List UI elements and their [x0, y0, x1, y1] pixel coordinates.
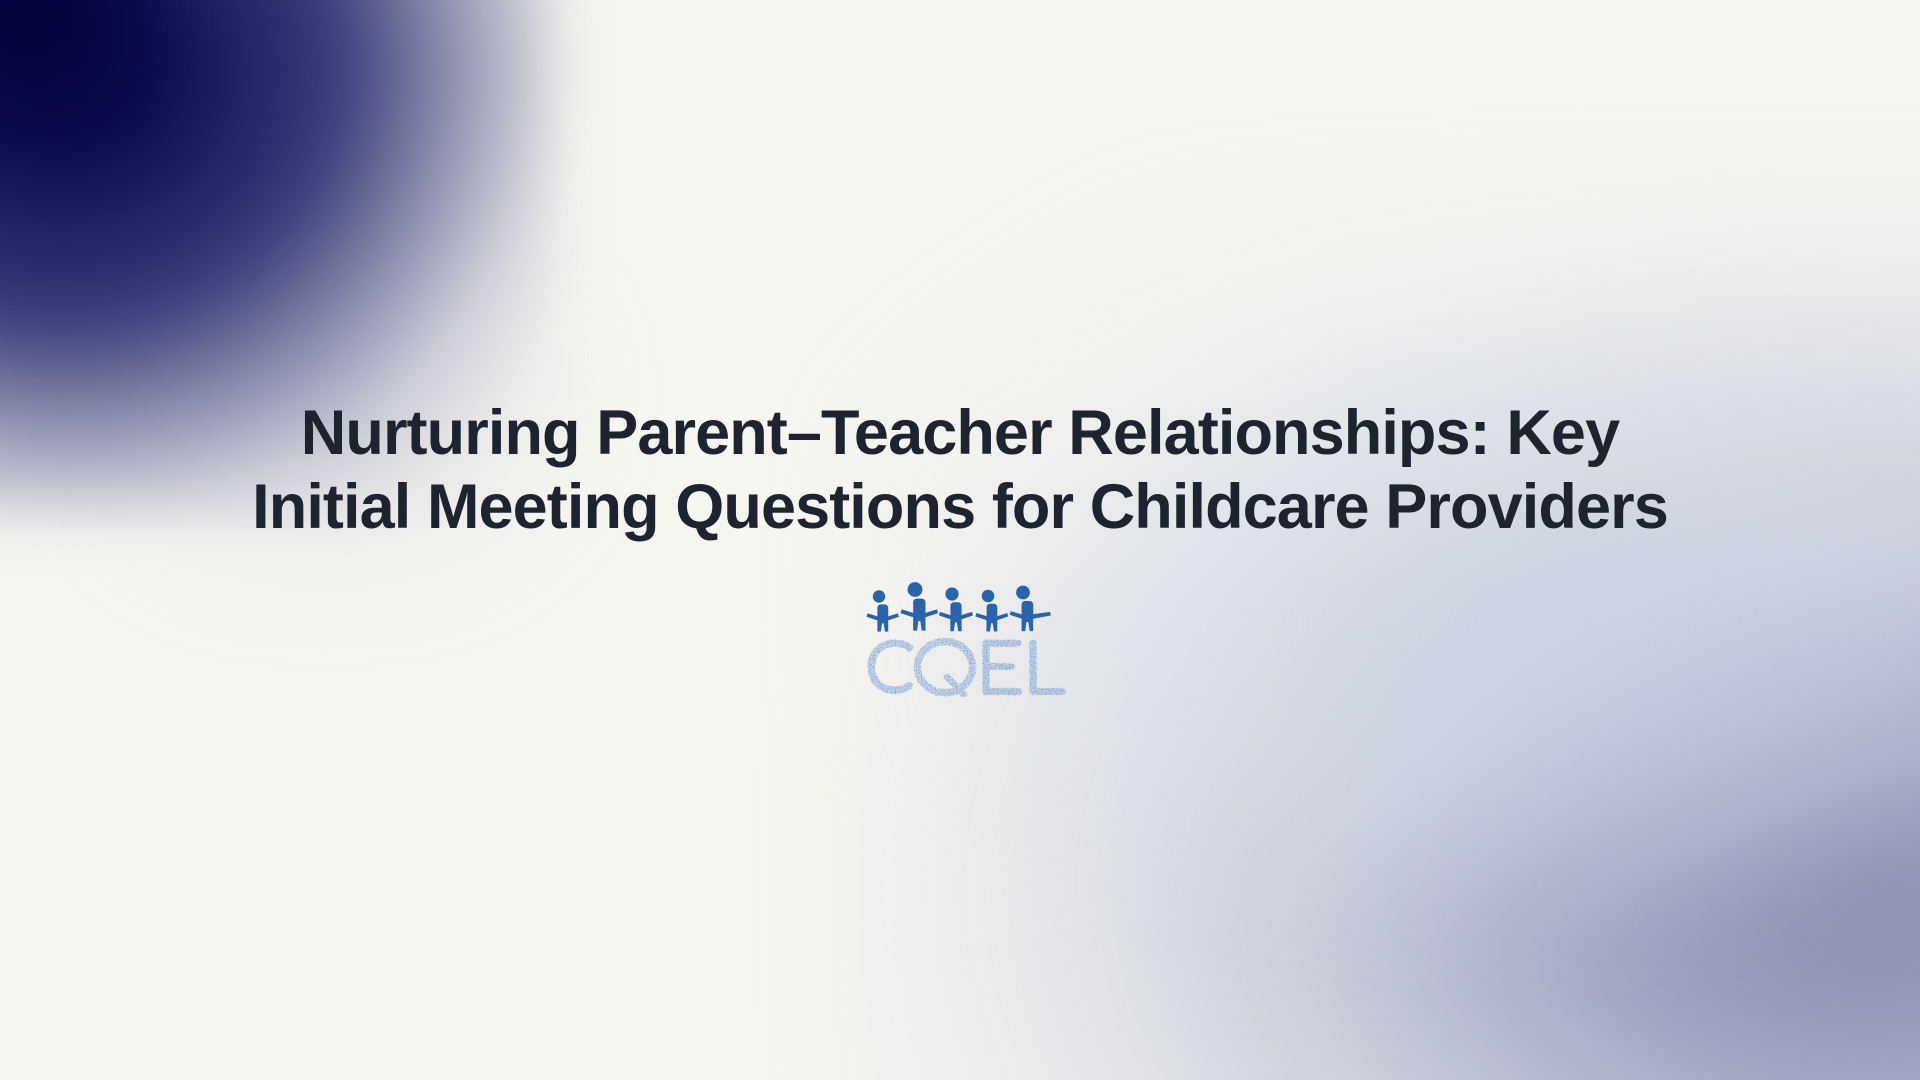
page-title: Nurturing Parent–Teacher Relationships: …	[100, 397, 1820, 544]
child-figure-5	[1010, 585, 1051, 631]
cqel-logo-icon	[853, 581, 1067, 697]
children-figures-group	[867, 582, 1051, 632]
child-figure-4	[975, 589, 1008, 631]
child-figure-3	[939, 587, 973, 631]
slide-canvas: Nurturing Parent–Teacher Relationships: …	[0, 0, 1920, 1080]
child-figure-2	[901, 582, 939, 631]
cqel-logo	[853, 581, 1067, 697]
cqel-wordmark	[871, 641, 1062, 694]
child-figure-1	[867, 590, 899, 631]
slide-content: Nurturing Parent–Teacher Relationships: …	[0, 0, 1920, 1080]
